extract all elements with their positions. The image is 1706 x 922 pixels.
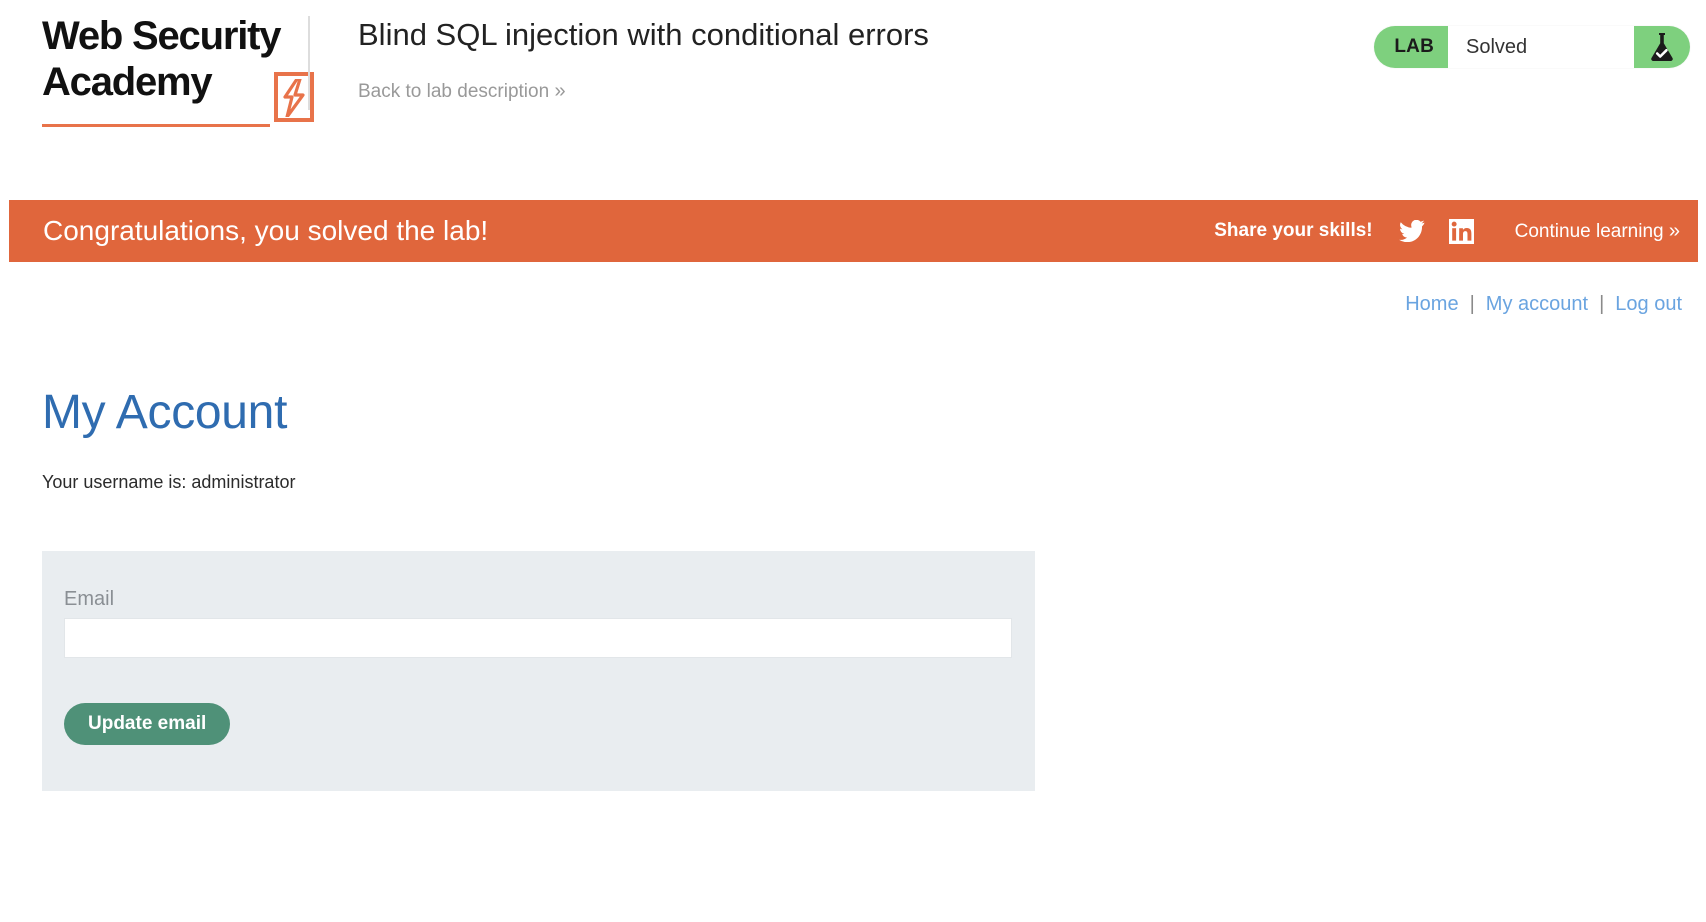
username-text: Your username is: administrator xyxy=(42,472,1042,493)
lab-status-badge[interactable]: LAB Solved xyxy=(1374,26,1690,68)
twitter-icon[interactable] xyxy=(1397,216,1427,246)
my-account-heading: My Account xyxy=(42,388,1042,438)
lab-status-tag: LAB xyxy=(1374,26,1448,68)
continue-learning-link[interactable]: Continue learning » xyxy=(1515,220,1678,243)
web-security-academy-logo[interactable]: Web Security Academy xyxy=(42,16,297,121)
back-to-lab-description-label: Back to lab description xyxy=(358,81,549,102)
nav-link-my-account[interactable]: My account xyxy=(1486,293,1588,316)
banner-actions: Share your skills! Continue learning » xyxy=(1214,216,1678,246)
nav-link-log-out[interactable]: Log out xyxy=(1615,293,1682,316)
back-to-lab-description-link[interactable]: Back to lab description » xyxy=(358,80,564,103)
email-field-label: Email xyxy=(64,588,114,611)
chevron-right-icon: » xyxy=(1669,220,1678,242)
lab-solved-message: Congratulations, you solved the lab! xyxy=(43,215,488,247)
main-content: My Account Your username is: administrat… xyxy=(42,388,1042,493)
lab-page: Web Security Academy Blind SQL injection… xyxy=(0,0,1706,922)
academy-header: Web Security Academy Blind SQL injection… xyxy=(0,0,1706,140)
lab-solved-banner: Congratulations, you solved the lab! Sha… xyxy=(9,200,1698,262)
linkedin-icon[interactable] xyxy=(1447,216,1477,246)
flask-check-icon xyxy=(1634,26,1690,68)
logo-line-1: Web Security xyxy=(42,16,280,56)
email-input[interactable] xyxy=(64,618,1012,658)
chevron-right-icon: » xyxy=(554,80,563,102)
update-email-button[interactable]: Update email xyxy=(64,703,230,745)
logo-line-2: Academy xyxy=(42,62,211,102)
header-divider xyxy=(308,16,310,110)
page-title: Blind SQL injection with conditional err… xyxy=(358,17,929,53)
nav-separator: | xyxy=(1470,293,1475,316)
logo-underline xyxy=(42,124,270,127)
share-your-skills-label: Share your skills! xyxy=(1214,220,1372,242)
nav-link-home[interactable]: Home xyxy=(1405,293,1458,316)
update-email-form: Email Update email xyxy=(42,551,1035,791)
lab-status-state: Solved xyxy=(1448,26,1634,68)
site-navigation: Home | My account | Log out xyxy=(1405,293,1682,316)
nav-separator: | xyxy=(1599,293,1604,316)
continue-learning-label: Continue learning xyxy=(1515,221,1664,242)
